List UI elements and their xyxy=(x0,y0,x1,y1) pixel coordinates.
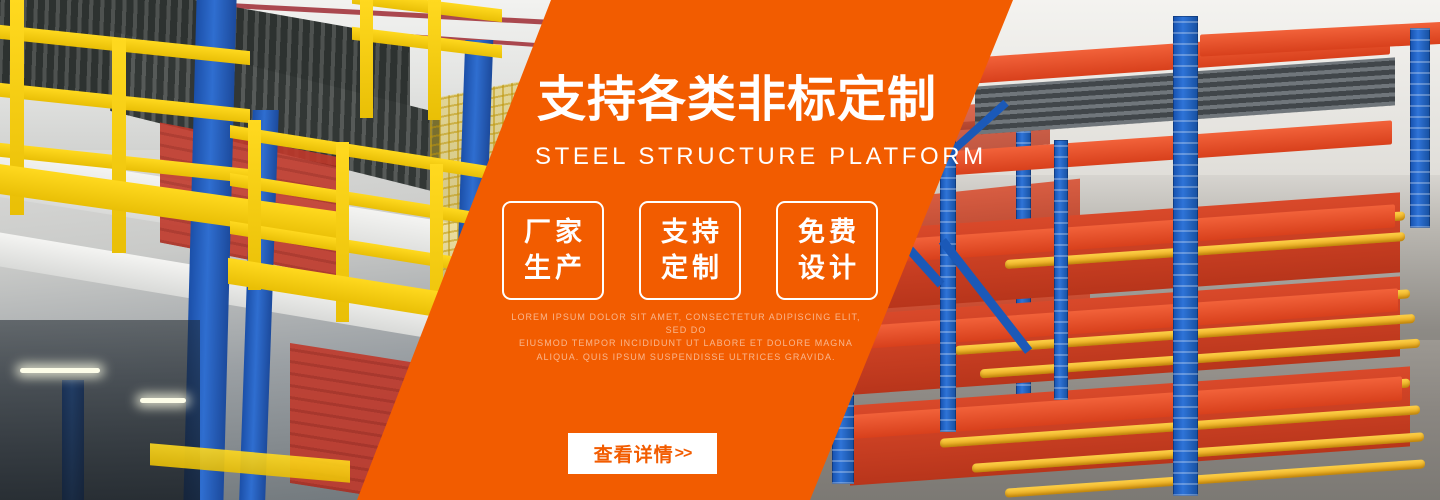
feature-badge-free-design: 免费 设计 xyxy=(776,201,878,300)
description-line: ALIQUA. QUIS IPSUM SUSPENDISSE ULTRICES … xyxy=(511,351,861,364)
badge-line-2: 设计 xyxy=(794,251,860,287)
feature-badge-manufacturer: 厂家 生产 xyxy=(502,201,604,300)
badge-line-1: 支持 xyxy=(657,215,723,251)
description-text: LOREM IPSUM DOLOR SIT AMET, CONSECTETUR … xyxy=(511,311,861,364)
description-line: EIUSMOD TEMPOR INCIDIDUNT UT LABORE ET D… xyxy=(511,337,861,350)
promo-banner: 支持各类非标定制 STEEL STRUCTURE PLATFORM 厂家 生产 … xyxy=(0,0,1440,500)
feature-badge-row: 厂家 生产 支持 定制 免费 设计 xyxy=(502,201,878,300)
page-title: 支持各类非标定制 xyxy=(537,76,937,125)
badge-line-2: 定制 xyxy=(657,251,723,287)
badge-line-1: 厂家 xyxy=(520,215,586,251)
banner-content: 支持各类非标定制 STEEL STRUCTURE PLATFORM 厂家 生产 … xyxy=(0,0,1440,500)
description-line: LOREM IPSUM DOLOR SIT AMET, CONSECTETUR … xyxy=(511,311,861,337)
feature-badge-customization: 支持 定制 xyxy=(639,201,741,300)
chevron-right-icon: >> xyxy=(675,445,692,463)
badge-line-1: 免费 xyxy=(794,215,860,251)
hero-subtitle: STEEL STRUCTURE PLATFORM xyxy=(535,145,987,169)
cta-label: 查看详情 xyxy=(594,440,674,467)
view-details-button[interactable]: 查看详情 >> xyxy=(568,433,717,474)
badge-line-2: 生产 xyxy=(520,251,586,287)
